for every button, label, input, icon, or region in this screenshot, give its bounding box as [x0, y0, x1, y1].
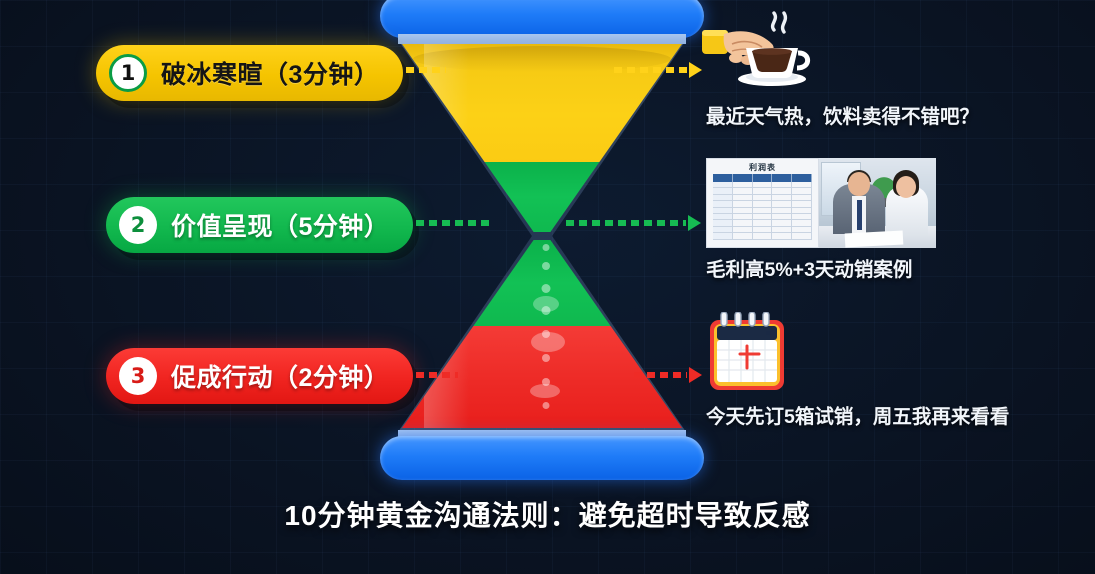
profit-table-header	[713, 174, 812, 182]
step-label-1: 破冰寒暄（3分钟）	[161, 55, 379, 91]
photo-man-head	[848, 172, 870, 196]
footer-headline: 10分钟黄金沟通法则：避免超时导致反感	[0, 494, 1095, 534]
step-pill-2[interactable]: 2 价值呈现（5分钟）	[106, 197, 413, 253]
handshake-coffee-icon	[702, 8, 822, 92]
step-number-1: 1	[109, 54, 147, 92]
arrow-step1-right	[614, 66, 702, 73]
slide-canvas: 1 破冰寒暄（3分钟） 2 价值呈现（5分钟） 3 促成行动（2分钟）	[0, 0, 1095, 574]
step-caption-1: 最近天气热，饮料卖得不错吧？	[706, 100, 979, 129]
hourglass-bottom-cap	[380, 436, 704, 480]
arrow-step2-left	[416, 219, 494, 226]
step-label-2: 价值呈现（5分钟）	[171, 207, 389, 243]
step-number-3: 3	[119, 357, 157, 395]
photo-man-tie	[857, 200, 862, 230]
arrow-step3-left	[416, 371, 458, 378]
step-label-3: 促成行动（2分钟）	[171, 358, 389, 394]
step-pill-3[interactable]: 3 促成行动（2分钟）	[106, 348, 413, 404]
table-row	[713, 233, 812, 239]
profit-table-body	[713, 182, 812, 242]
profit-table-title: 利润表	[707, 162, 818, 173]
business-meeting-photo	[819, 158, 936, 248]
calendar-icon	[704, 312, 790, 394]
value-proof-photos: 利润表	[706, 158, 936, 248]
falling-sand-stream	[539, 244, 553, 424]
hourglass-top-cap	[380, 0, 704, 38]
step-pill-1[interactable]: 1 破冰寒暄（3分钟）	[96, 45, 403, 101]
photo-woman-head	[896, 176, 916, 198]
step-caption-2: 毛利高5%+3天动销案例	[706, 253, 912, 282]
step-number-2: 2	[119, 206, 157, 244]
profit-table-photo: 利润表	[706, 158, 819, 248]
step-caption-3: 今天先订5箱试销，周五我再来看看	[706, 400, 1009, 429]
arrow-step3-right	[634, 371, 702, 378]
arrow-step2-right	[566, 219, 701, 226]
sand-band-yellow	[402, 44, 682, 162]
arrow-step1-left	[406, 66, 446, 73]
